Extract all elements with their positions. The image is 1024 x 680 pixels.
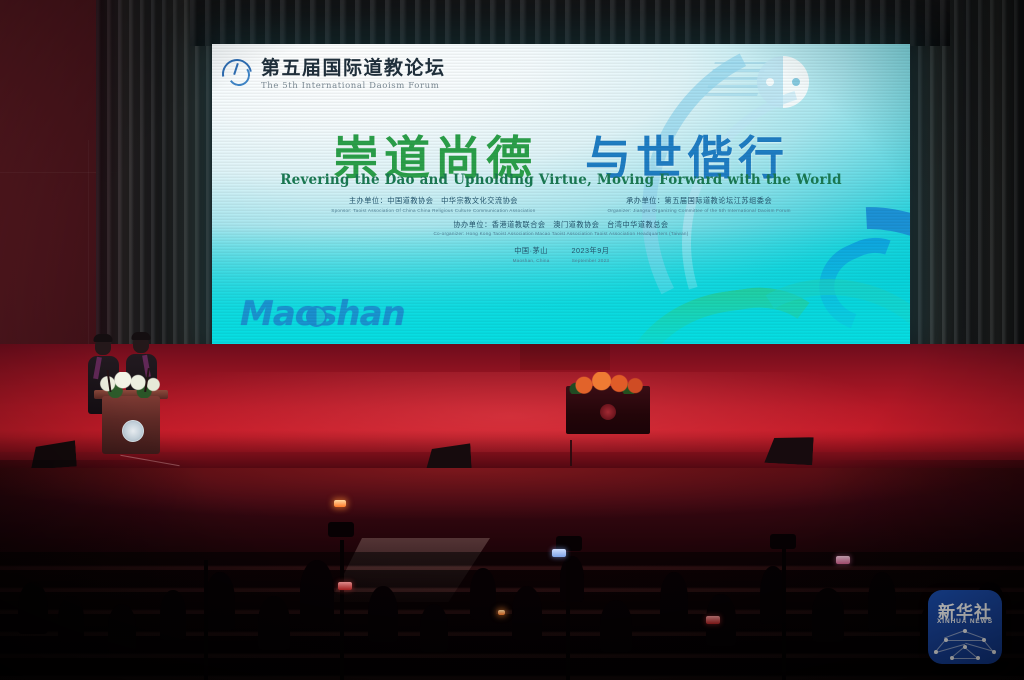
credits-place-en: Maoshan, China [513,258,550,263]
credits-co-organizer-en: Co-organizer: Hong Kong Taoist Associati… [433,231,688,236]
taiji-yin-yang-graphic [757,56,809,108]
audience-silhouette [18,582,48,634]
credits-organizer: 承办单位：第五届国际道教论坛江苏组委会 Organizer: Jiangsu O… [608,196,791,213]
press-video-camera [770,534,796,549]
speaking-podium [80,332,185,462]
credits-date-en: September 2023 [572,258,610,263]
camera-tripod [782,548,786,680]
credits-row-co: 协办单位：香港道教联合会 澳门道教协会 台湾中华道教总会 Co-organize… [212,220,910,237]
audience-silhouette [812,588,844,642]
credits-co-organizer: 协办单位：香港道教联合会 澳门道教协会 台湾中华道教总会 Co-organize… [433,220,688,237]
forum-title-english: The 5th International Daoism Forum [261,81,446,91]
circular-podium-emblem [122,420,144,442]
stage-riser-step [520,344,610,370]
xinhua-news-watermark: 新华社 XINHUA NEWS [928,590,1002,664]
white-flower-arrangement [94,372,170,398]
watermark-english: XINHUA NEWS [928,618,1002,625]
audience-silhouette [108,604,136,652]
audience-silhouette [600,600,632,652]
credits-place-date: 中国·茅山 Maoshan, China 2023年9月 September 2… [212,246,910,263]
audience-silhouette [470,568,496,620]
audience-silhouette [368,586,398,642]
credits-date: 2023年9月 September 2023 [572,246,610,263]
orange-flower-arrangement [568,372,648,394]
taiji-eye-light [766,78,774,86]
audience-silhouette [660,572,688,628]
audience-silhouette [300,560,334,624]
credits-sponsor: 主办单位：中国道教协会 中华宗教文化交流协会 Sponsor: Taoist A… [331,196,535,213]
daoist-hat [94,334,113,342]
forum-title-chinese: 第五届国际道教论坛 [261,58,446,79]
camera-tally-light [334,500,346,507]
credits-sponsor-zh: 主办单位：中国道教协会 中华宗教文化交流协会 [331,196,535,206]
daoist-hat [132,332,151,340]
audience-silhouette [560,556,584,602]
forum-header-lockup: 第五届国际道教论坛 The 5th International Daoism F… [222,58,446,91]
pelmet-folds [190,0,950,46]
taiji-eye-dark [792,78,800,86]
slogan-english: Revering the Dao and Upholding Virtue, M… [212,172,910,188]
camera-monitor-screen [338,582,352,590]
audience-silhouette [868,572,896,632]
daoism-forum-swirl-logo [222,59,252,89]
credits-date-zh: 2023年9月 [572,246,610,256]
yin-yang-symbol [306,306,327,327]
credits-place-zh: 中国·茅山 [513,246,550,256]
stage-pelmet-valance [190,0,950,46]
credits-sponsor-en: Sponsor: Taoist Association Of China Chi… [331,208,535,213]
planter-emblem [600,404,616,420]
audience-silhouette [160,590,186,640]
forum-title-block: 第五届国际道教论坛 The 5th International Daoism F… [261,58,446,91]
audience-silhouette [258,596,290,650]
camera-monitor-screen [552,549,566,557]
stage-cable [570,440,572,466]
credits-co-organizer-zh: 协办单位：香港道教联合会 澳门道教协会 台湾中华道教总会 [433,220,688,230]
watermark-network-graphic [928,628,1002,662]
camera-monitor-screen [706,616,720,624]
camera-monitor-screen [836,556,850,564]
camera-tally-light [498,610,505,615]
photograph-stage-scene: 第五届国际道教论坛 The 5th International Daoism F… [0,0,1024,680]
maoshan-wordmark: Maoshan [240,294,420,344]
audience-silhouette [58,596,84,642]
camera-tripod [204,560,208,680]
led-backdrop-screen: 第五届国际道教论坛 The 5th International Daoism F… [212,44,910,346]
press-video-camera [328,522,354,537]
maoshan-wordmark-text: Maoshan [240,294,420,334]
credits-organizer-zh: 承办单位：第五届国际道教论坛江苏组委会 [608,196,791,206]
audience-silhouette [512,586,542,640]
stage-flower-planter [566,372,650,434]
camera-tripod [340,540,344,680]
credits-row-top: 主办单位：中国道教协会 中华宗教文化交流协会 Sponsor: Taoist A… [212,196,910,213]
credits-place: 中国·茅山 Maoshan, China [513,246,550,263]
audience-silhouette [420,604,448,652]
credits-organizer-en: Organizer: Jiangsu Organizing Committee … [608,208,791,213]
credits-block: 主办单位：中国道教协会 中华宗教文化交流协会 Sponsor: Taoist A… [212,196,910,263]
audience-silhouette [205,572,235,630]
house-ambient-glow [0,468,1024,538]
camera-tripod [566,552,570,680]
